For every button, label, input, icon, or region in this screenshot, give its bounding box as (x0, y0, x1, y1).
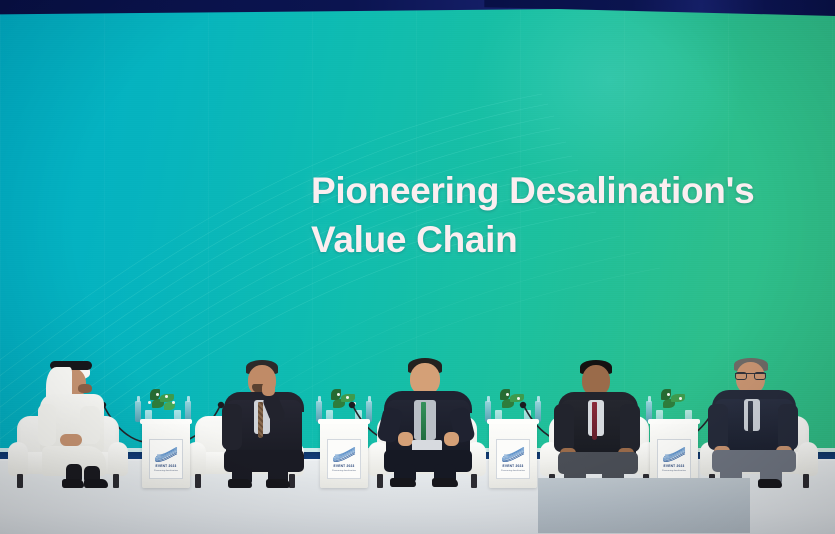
event-logo-subtext: Pioneering desalination (662, 470, 686, 472)
backdrop-headline: Pioneering Desalination's Value Chain (311, 166, 831, 264)
eyeglasses-icon (735, 373, 766, 377)
event-logo-text: EVENT 2023 (502, 464, 523, 468)
panelist-4 (550, 360, 650, 488)
wave-stripes-icon (332, 447, 356, 462)
event-logo-4: EVENT 2023 Pioneering desalination (657, 439, 691, 479)
side-table-2: EVENT 2023 Pioneering desalination (320, 422, 368, 488)
panelist-3 (378, 358, 484, 488)
headline-line-2: Value Chain (311, 215, 831, 264)
event-logo-text: EVENT 2023 (663, 464, 684, 468)
event-logo-subtext: Pioneering desalination (501, 470, 525, 472)
wave-stripes-icon (154, 447, 178, 462)
event-logo-text: EVENT 2023 (333, 464, 354, 468)
conference-stage-photo: Pioneering Desalination's Value Chain (0, 0, 835, 534)
event-logo-3: EVENT 2023 Pioneering desalination (496, 439, 530, 479)
side-table-3: EVENT 2023 Pioneering desalination (489, 422, 537, 488)
side-table-1: EVENT 2023 Pioneering desalination (142, 422, 190, 488)
event-logo-subtext: Pioneering desalination (332, 470, 356, 472)
event-logo-1: EVENT 2023 Pioneering desalination (149, 439, 183, 479)
wave-stripes-icon (662, 447, 686, 462)
headline-line-1: Pioneering Desalination's (311, 170, 754, 211)
event-logo-text: EVENT 2023 (155, 464, 176, 468)
panelist-5 (706, 358, 810, 488)
stage-podium-block (538, 478, 750, 534)
panelist-2 (216, 360, 316, 488)
panelist-1 (26, 360, 144, 488)
event-logo-2: EVENT 2023 Pioneering desalination (327, 439, 361, 479)
wave-stripes-icon (501, 447, 525, 462)
event-logo-subtext: Pioneering desalination (154, 470, 178, 472)
